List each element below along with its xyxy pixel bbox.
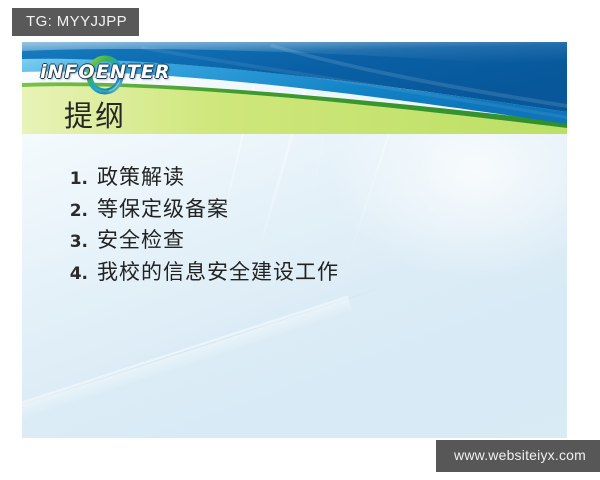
list-item-label: 政策解读	[97, 166, 185, 190]
list-item-label: 等保定级备案	[97, 198, 229, 222]
outline-list: 1. 政策解读 2. 等保定级备案 3. 安全检查 4. 我校的信息安全建设工作	[58, 166, 528, 292]
tg-badge: TG: MYYJJPP	[12, 8, 139, 36]
logo-word-info: iNFO	[40, 61, 96, 83]
list-item-label: 我校的信息安全建设工作	[97, 261, 339, 285]
background-sweep-glow	[22, 295, 353, 430]
watermark-badge: www.websiteiyx.com	[436, 440, 600, 472]
background-sweep-line	[22, 284, 391, 418]
list-item: 2. 等保定级备案	[58, 198, 528, 222]
presentation-slide: iNFO ENTER 提纲 1. 政策解读 2. 等保定级备案 3. 安全检查 …	[22, 42, 567, 438]
list-item: 1. 政策解读	[58, 166, 528, 190]
list-item-number: 4.	[58, 265, 97, 284]
info-center-logo: iNFO ENTER	[40, 54, 210, 94]
list-item: 4. 我校的信息安全建设工作	[58, 261, 528, 285]
list-item: 3. 安全检查	[58, 229, 528, 253]
list-item-label: 安全检查	[97, 229, 185, 253]
slide-title: 提纲	[64, 102, 126, 131]
logo-word-center: ENTER	[96, 61, 170, 83]
list-item-number: 1.	[58, 170, 97, 189]
list-item-number: 2.	[58, 202, 97, 221]
list-item-number: 3.	[58, 233, 97, 252]
